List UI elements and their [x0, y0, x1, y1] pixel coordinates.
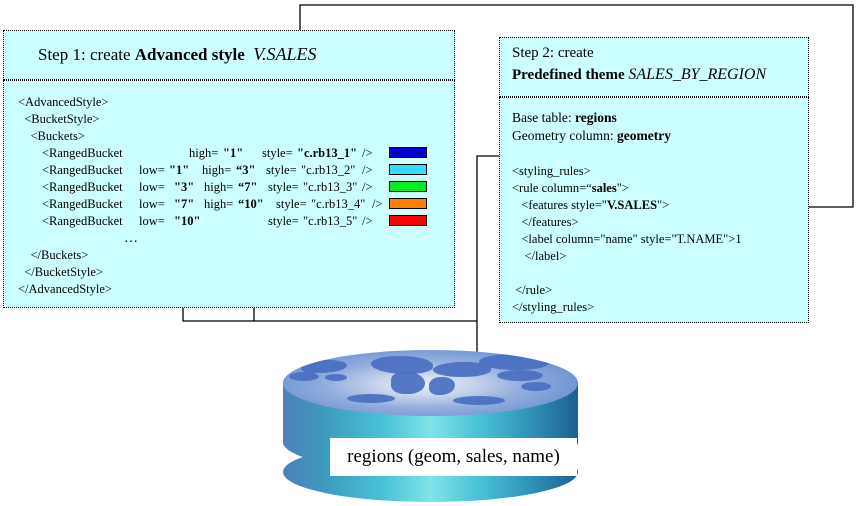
step1-title-italic: V.SALES: [253, 44, 316, 64]
code-line-buckets-close: </Buckets>: [18, 248, 88, 263]
bucket-low-value: "3": [174, 180, 194, 195]
bucket-close: />: [362, 146, 373, 161]
bucket-high-label: high=: [202, 163, 231, 178]
code-line-label-close: </label>: [512, 249, 566, 264]
diagram-canvas: Step 1: create Advanced style V.SALES <A…: [0, 0, 858, 506]
color-swatch: [389, 215, 427, 226]
color-swatch: [389, 181, 427, 192]
bucket-high-value: "1": [223, 146, 243, 161]
bucket-close: />: [362, 163, 373, 178]
bucket-high-value: “10": [238, 197, 264, 212]
code-line-rule-close: </rule>: [512, 283, 552, 298]
geometry-column-label: Geometry column:: [512, 128, 617, 143]
color-swatch: [389, 198, 427, 209]
bucket-style-label: style=: [276, 197, 307, 212]
bucket-style-label: style=: [262, 146, 293, 161]
code-line-bucketstyle-close: </BucketStyle>: [18, 265, 103, 280]
database-globe-top: [283, 350, 578, 416]
bucket-style-value: "c.rb13_2": [301, 163, 355, 178]
bucket-low-label: low=: [139, 214, 168, 229]
bucket-high-label: high=: [204, 180, 233, 195]
bucket-low-label: low=: [139, 163, 165, 178]
bucket-high-value: “7": [238, 180, 257, 195]
code-ellipsis: …: [124, 231, 138, 247]
bucket-style-label: style=: [268, 180, 299, 195]
bucket-close: />: [372, 197, 383, 212]
bucket-high-value: “3": [236, 163, 255, 178]
bucket-style-value: "c.rb13_1": [297, 146, 357, 161]
code-line-rule-open: <rule column=“sales">: [512, 181, 629, 196]
step1-code-panel: <AdvancedStyle> <BucketStyle> <Buckets> …: [3, 80, 455, 308]
code-line-features-close: </features>: [512, 215, 579, 230]
database-table-label: regions (geom, sales, name): [330, 438, 577, 476]
bucket-low-label: low=: [139, 197, 168, 212]
bucket-style-value: "c.rb13_4": [311, 197, 365, 212]
bucket-tag: <RangedBucket: [42, 180, 123, 195]
code-line-label: <label column="name" style="T.NAME">1: [512, 232, 742, 247]
step2-title-italic: SALES_BY_REGION: [628, 66, 766, 83]
color-swatch: [389, 147, 427, 158]
bucket-tag: <RangedBucket: [42, 163, 123, 178]
database-cylinder-icon: regions (geom, sales, name): [283, 350, 578, 500]
step2-title-line2: Predefined theme SALES_BY_REGION: [512, 66, 766, 84]
bucket-low-value: "7": [174, 197, 194, 212]
code-line-styling-rules-close: </styling_rules>: [512, 300, 594, 315]
step1-title-prefix: Step 1: create: [38, 45, 135, 64]
step1-header-panel: Step 1: create Advanced style V.SALES: [3, 30, 455, 80]
bucket-style-value: "c.rb13_5": [303, 214, 357, 229]
geometry-column-line: Geometry column: geometry: [512, 128, 671, 144]
step2-header-panel: Step 2: create Predefined theme SALES_BY…: [499, 37, 809, 97]
bucket-low-value: "1": [169, 163, 189, 178]
bucket-style-value: "c.rb13_3": [303, 180, 357, 195]
code-line-styling-rules-open: <styling_rules>: [512, 164, 591, 179]
bucket-low-label: low=: [139, 180, 168, 195]
bucket-low-value: "10": [174, 214, 200, 229]
code-line-bucketstyle-open: <BucketStyle>: [18, 112, 99, 127]
step2-title-line1: Step 2: create: [512, 45, 594, 62]
color-swatch: [389, 164, 427, 175]
bucket-high-label: high=: [204, 197, 233, 212]
bucket-style-label: style=: [266, 163, 297, 178]
bucket-style-label: style=: [268, 214, 299, 229]
base-table-value: regions: [575, 110, 617, 125]
base-table-label: Base table:: [512, 110, 575, 125]
bucket-tag: <RangedBucket: [42, 197, 123, 212]
code-line-features-open: <features style="V.SALES">: [512, 198, 669, 213]
bucket-close: />: [362, 214, 373, 229]
base-table-line: Base table: regions: [512, 110, 617, 126]
bucket-high-label: high=: [189, 146, 218, 161]
code-line-buckets-open: <Buckets>: [18, 129, 85, 144]
step1-title: Step 1: create Advanced style V.SALES: [38, 44, 316, 65]
step1-title-bold: Advanced style: [135, 45, 245, 64]
bucket-close: />: [362, 180, 373, 195]
bucket-tag: <RangedBucket: [42, 214, 123, 229]
code-line-advancedstyle-close: </AdvancedStyle>: [18, 282, 112, 297]
step2-title-bold: Predefined theme: [512, 67, 625, 83]
geometry-column-value: geometry: [617, 128, 671, 143]
bucket-tag: <RangedBucket: [42, 146, 123, 161]
step2-code-panel: Base table: regions Geometry column: geo…: [499, 97, 809, 323]
code-line-advancedstyle-open: <AdvancedStyle>: [18, 95, 108, 110]
